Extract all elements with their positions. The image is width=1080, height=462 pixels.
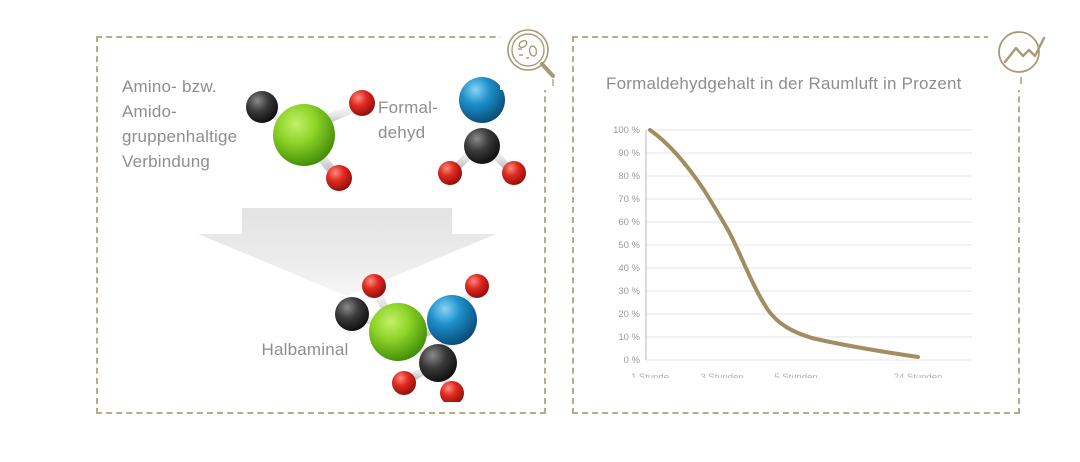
x-tick: 5 Stunden (774, 372, 817, 378)
x-tick: 24 Stunden (894, 372, 943, 378)
product-label: Halbaminal (220, 337, 390, 362)
amino-compound-molecule (238, 82, 388, 197)
atom-carbon (419, 344, 457, 382)
trend-chart-icon (988, 24, 1054, 90)
atom-nitrogen (273, 104, 335, 166)
y-tick: 100 % (613, 125, 640, 136)
atom-oxygen-blue (459, 77, 505, 123)
page-root: Amino- bzw. Amido- gruppenhaltige Verbin… (0, 0, 1080, 462)
y-tick: 30 % (618, 286, 640, 297)
atom-oxygen-blue (427, 295, 477, 345)
atom-oxygen (349, 90, 375, 116)
atom-oxygen (392, 371, 416, 395)
atom-oxygen (465, 274, 489, 298)
x-tick-labels: 1 Stunde 3 Stunden 5 Stunden 24 Stunden (631, 372, 942, 378)
line-chart: 100 % 90 % 80 % 70 % 60 % 50 % 40 % 30 %… (600, 118, 1000, 378)
y-tick: 10 % (618, 332, 640, 343)
y-tick: 90 % (618, 148, 640, 159)
x-tick: 3 Stunden (700, 372, 743, 378)
x-tick: 1 Stunde (631, 372, 669, 378)
chart-title: Formaldehydgehalt in der Raumluft in Pro… (606, 74, 962, 94)
y-tick: 20 % (618, 309, 640, 320)
data-series-line (650, 130, 918, 357)
atom-carbon (246, 91, 278, 123)
y-tick: 50 % (618, 240, 640, 251)
y-tick-labels: 100 % 90 % 80 % 70 % 60 % 50 % 40 % 30 %… (613, 125, 640, 366)
y-tick: 70 % (618, 194, 640, 205)
y-tick: 60 % (618, 217, 640, 228)
atom-oxygen (362, 274, 386, 298)
atom-oxygen (326, 165, 352, 191)
magnifier-icon (500, 24, 566, 90)
y-tick: 40 % (618, 263, 640, 274)
y-tick: 0 % (624, 355, 641, 366)
gridlines (646, 130, 972, 360)
y-tick: 80 % (618, 171, 640, 182)
atom-carbon (464, 128, 500, 164)
atom-carbon (335, 297, 369, 331)
atom-hydrogen (502, 161, 526, 185)
atom-hydrogen (438, 161, 462, 185)
halbaminal-molecule (328, 270, 508, 402)
